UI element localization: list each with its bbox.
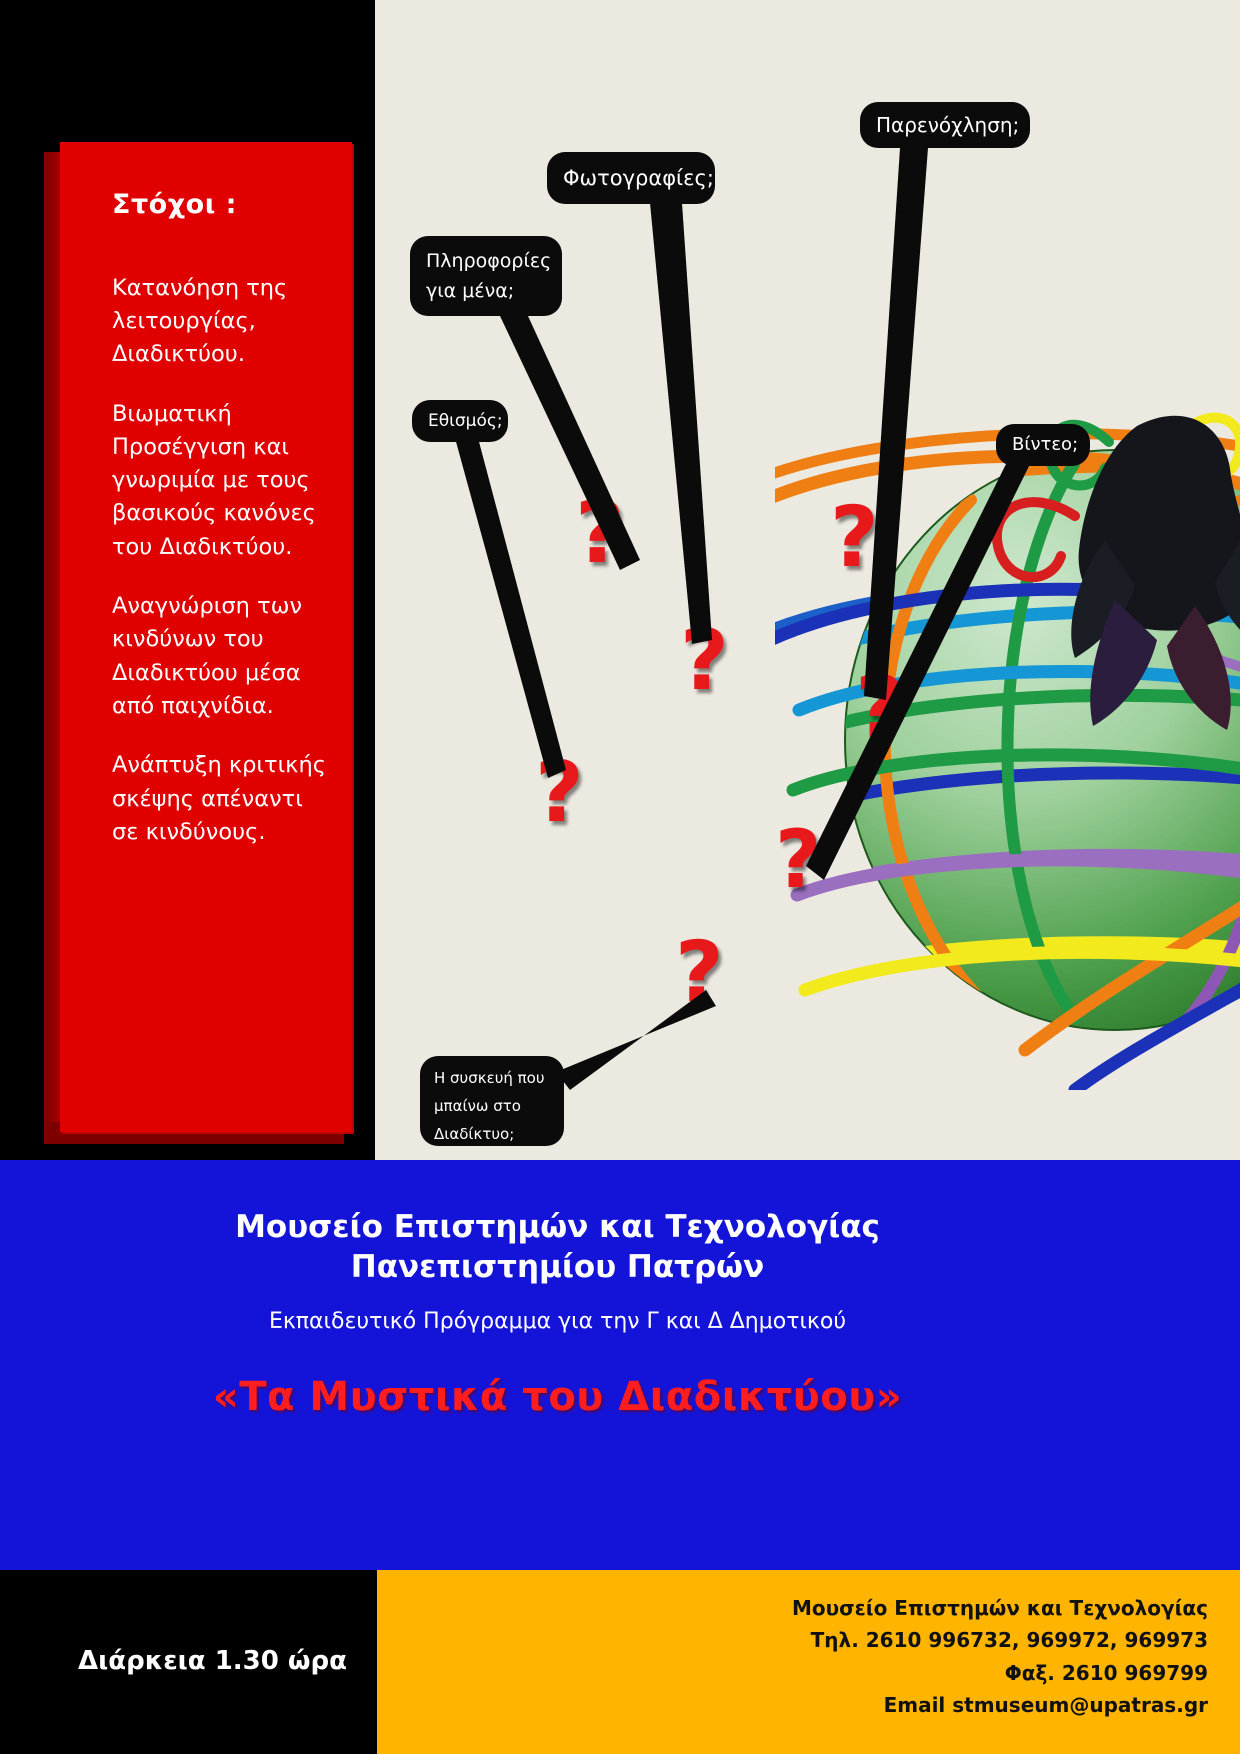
callout-text-parenochlisi: Παρενόχληση; bbox=[876, 112, 1014, 138]
callout-bubble-ethismos[interactable]: Εθισμός; bbox=[412, 400, 508, 442]
duration-label: Διάρκεια 1.30 ώρα bbox=[78, 1646, 347, 1676]
callout-text-syskevi: Η συσκευή που μπαίνω στο Διαδίκτυο; bbox=[434, 1064, 550, 1148]
callout-bubble-plirofories[interactable]: Πληροφορίες για μένα; bbox=[410, 236, 562, 316]
programme-title: «Τα Μυστικά του Διαδικτύου» bbox=[0, 1334, 1115, 1420]
contact-line-phone: Τηλ. 2610 996732, 969972, 969973 bbox=[792, 1624, 1208, 1656]
callout-text-plirofories: Πληροφορίες για μένα; bbox=[426, 246, 546, 306]
callout-bubble-vinteo[interactable]: Βίντεο; bbox=[996, 424, 1090, 466]
contact-box: Μουσείο Επιστημών και Τεχνολογίας Τηλ. 2… bbox=[377, 1570, 1240, 1754]
callout-bubble-fotografies[interactable]: Φωτογραφίες; bbox=[547, 152, 715, 204]
contact-line-fax: Φαξ. 2610 969799 bbox=[792, 1657, 1208, 1689]
contact-line-email[interactable]: Email stmuseum@upatras.gr bbox=[792, 1689, 1208, 1721]
programme-subtitle: Εκπαιδευτικό Πρόγραμμα για την Γ και Δ Δ… bbox=[0, 1287, 1115, 1334]
poster: ? ? ? ? ? ? ? Εθισμός; Πλ bbox=[0, 0, 1240, 1754]
upper-stage: ? ? ? ? ? ? ? Εθισμός; Πλ bbox=[0, 0, 1240, 1160]
museum-name-line2: Πανεπιστημίου Πατρών bbox=[0, 1248, 1115, 1288]
callout-text-vinteo: Βίντεο; bbox=[1012, 434, 1074, 456]
blue-banner-content: Μουσείο Επιστημών και Τεχνολογίας Πανεπι… bbox=[0, 1160, 1115, 1420]
contact-details: Μουσείο Επιστημών και Τεχνολογίας Τηλ. 2… bbox=[792, 1592, 1208, 1722]
contact-line-museum: Μουσείο Επιστημών και Τεχνολογίας bbox=[792, 1592, 1208, 1624]
blue-banner: Μουσείο Επιστημών και Τεχνολογίας Πανεπι… bbox=[0, 1160, 1240, 1570]
footer-row: Διάρκεια 1.30 ώρα Μουσείο Επιστημών και … bbox=[0, 1570, 1240, 1754]
callout-text-ethismos: Εθισμός; bbox=[428, 410, 492, 432]
callout-bubble-syskevi[interactable]: Η συσκευή που μπαίνω στο Διαδίκτυο; bbox=[420, 1056, 564, 1146]
callout-bubble-parenochlisi[interactable]: Παρενόχληση; bbox=[860, 102, 1030, 148]
callout-text-fotografies: Φωτογραφίες; bbox=[563, 162, 699, 194]
museum-name-line1: Μουσείο Επιστημών και Τεχνολογίας bbox=[0, 1160, 1115, 1248]
